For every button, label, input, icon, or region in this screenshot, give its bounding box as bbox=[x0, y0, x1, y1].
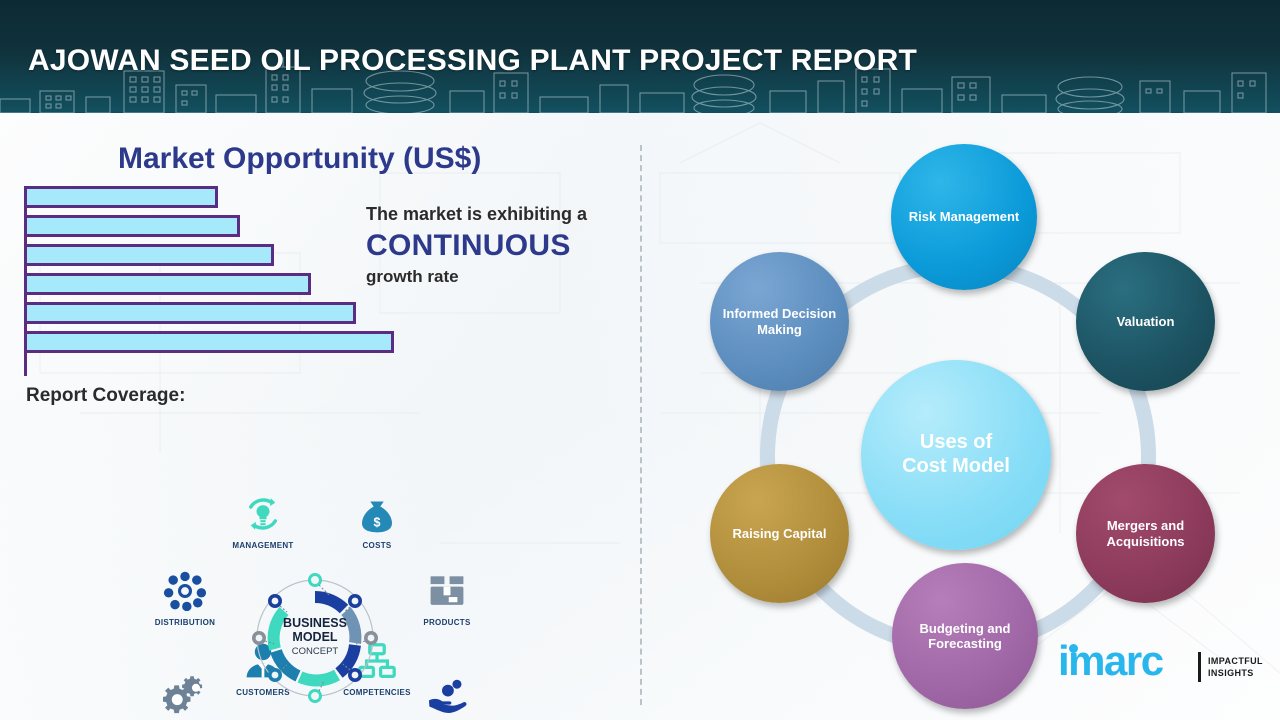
node-uses-of-cost-model: Uses of Cost Model bbox=[861, 360, 1051, 550]
coverage-label: MANAGEMENT bbox=[218, 541, 308, 550]
imarc-dot-icon bbox=[1069, 644, 1078, 653]
report-coverage-label: Report Coverage: bbox=[26, 385, 185, 407]
bar-1 bbox=[27, 186, 218, 208]
bm-title-line2: MODEL bbox=[240, 631, 390, 645]
network-nodes-icon bbox=[140, 568, 230, 614]
center-label-line2: Cost Model bbox=[896, 455, 1016, 479]
bm-subtitle: CONCEPT bbox=[240, 646, 390, 657]
market-opportunity-title: Market Opportunity (US$) bbox=[118, 142, 481, 176]
growth-statement: The market is exhibiting a CONTINUOUS gr… bbox=[366, 203, 636, 287]
business-model-diagram: BUSINESS MODEL CONCEPT bbox=[240, 563, 390, 713]
bar-5 bbox=[27, 302, 356, 324]
page-header: AJOWAN SEED OIL PROCESSING PLANT PROJECT… bbox=[0, 0, 1280, 113]
coverage-label: DISTRIBUTION bbox=[140, 618, 230, 627]
coverage-item-management: MANAGEMENT bbox=[218, 491, 308, 550]
node-valuation: Valuation bbox=[1076, 252, 1215, 391]
node-label: Informed Decision Making bbox=[710, 306, 849, 337]
node-label: Raising Capital bbox=[727, 526, 833, 541]
center-label-line1: Uses of bbox=[896, 431, 1016, 455]
node-budgeting-and-forecasting: Budgeting and Forecasting bbox=[892, 563, 1038, 709]
page-title: AJOWAN SEED OIL PROCESSING PLANT PROJECT… bbox=[28, 44, 917, 78]
lightbulb-refresh-icon bbox=[218, 491, 308, 537]
bar-6 bbox=[27, 331, 394, 353]
node-label: Budgeting and Forecasting bbox=[892, 621, 1038, 652]
gears-icon bbox=[140, 673, 230, 719]
growth-emphasis: CONTINUOUS bbox=[366, 226, 636, 267]
left-panel: Market Opportunity (US$) The market is e… bbox=[0, 113, 640, 720]
coverage-item-products: PRODUCTS bbox=[402, 568, 492, 627]
bar-2 bbox=[27, 215, 240, 237]
node-mergers-and-acquisitions: Mergers and Acquisitions bbox=[1076, 464, 1215, 603]
imarc-tagline: IMPACTFUL INSIGHTS bbox=[1208, 655, 1263, 679]
coverage-label: PRODUCTS bbox=[402, 618, 492, 627]
node-label: Risk Management bbox=[903, 209, 1026, 224]
node-risk-management: Risk Management bbox=[891, 144, 1037, 290]
imarc-logo: imarc IMPACTFUL INSIGHTS bbox=[1058, 640, 1258, 692]
svg-text:$: $ bbox=[374, 516, 381, 530]
right-panel: Uses of Cost Model Risk Management Valua… bbox=[640, 113, 1280, 720]
coverage-item-distribution: DISTRIBUTION bbox=[140, 568, 230, 627]
growth-line-3: growth rate bbox=[366, 266, 636, 287]
node-informed-decision-making: Informed Decision Making bbox=[710, 252, 849, 391]
package-box-icon bbox=[402, 568, 492, 614]
node-label: Valuation bbox=[1111, 314, 1181, 329]
coverage-item-costs: $ COSTS bbox=[332, 491, 422, 550]
node-raising-capital: Raising Capital bbox=[710, 464, 849, 603]
money-bag-icon: $ bbox=[332, 491, 422, 537]
bar-3 bbox=[27, 244, 274, 266]
imarc-tagline-line1: IMPACTFUL bbox=[1208, 655, 1263, 667]
imarc-divider bbox=[1198, 652, 1201, 682]
bm-title-line1: BUSINESS bbox=[240, 617, 390, 631]
coverage-item-services: SERVICES bbox=[140, 673, 230, 720]
imarc-tagline-line2: INSIGHTS bbox=[1208, 667, 1263, 679]
node-label: Mergers and Acquisitions bbox=[1076, 518, 1215, 549]
bar-4 bbox=[27, 273, 311, 295]
market-opportunity-bar-chart bbox=[24, 186, 404, 376]
coverage-label: COSTS bbox=[332, 541, 422, 550]
growth-line-1: The market is exhibiting a bbox=[366, 203, 636, 226]
